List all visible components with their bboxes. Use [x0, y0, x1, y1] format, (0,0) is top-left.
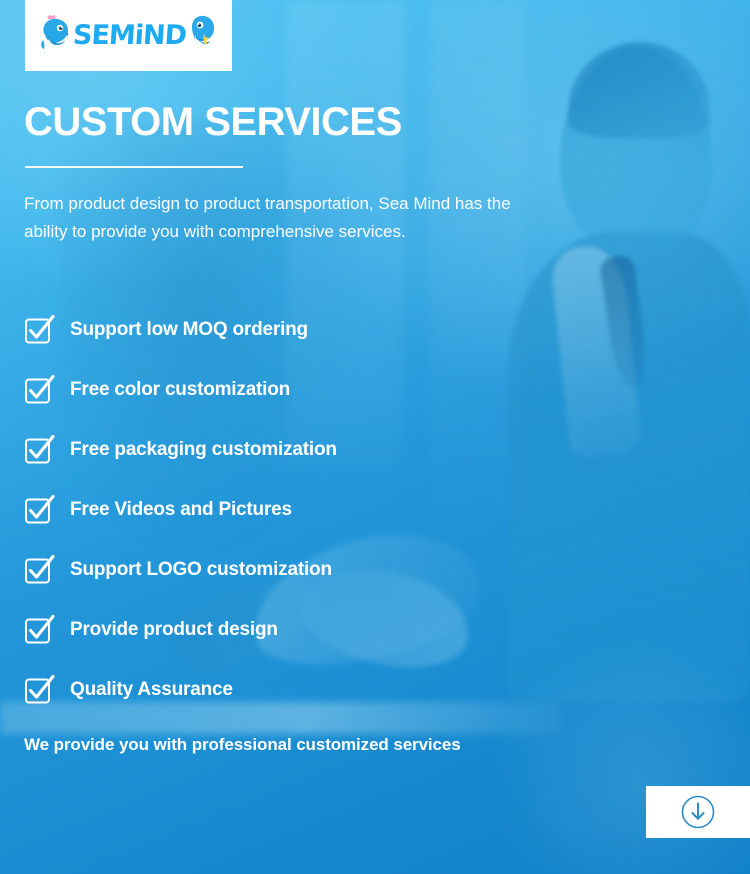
- list-item-label: Quality Assurance: [70, 679, 233, 701]
- dolphin-mascot-right-icon: [186, 13, 218, 58]
- list-item: Provide product design: [24, 600, 564, 660]
- download-button[interactable]: [646, 786, 750, 838]
- checkbox-checked-icon: [24, 315, 54, 345]
- feature-list: Support low MOQ ordering Free color cust…: [24, 300, 564, 720]
- logo-wordmark: SEMiND: [72, 22, 187, 49]
- logo-contents: SEMiND: [39, 13, 218, 58]
- checkbox-checked-icon: [24, 675, 54, 705]
- checkbox-checked-icon: [24, 615, 54, 645]
- list-item: Free packaging customization: [24, 420, 564, 480]
- list-item-label: Free Videos and Pictures: [70, 499, 292, 521]
- dolphin-mascot-left-icon: [39, 14, 73, 57]
- list-item-label: Free packaging customization: [70, 439, 337, 461]
- title-underline-divider: [25, 166, 243, 168]
- list-item: Support low MOQ ordering: [24, 300, 564, 360]
- checkbox-checked-icon: [24, 375, 54, 405]
- intro-paragraph: From product design to product transport…: [24, 190, 524, 246]
- page-title: CUSTOM SERVICES: [24, 100, 402, 144]
- list-item: Free Videos and Pictures: [24, 480, 564, 540]
- custom-services-banner: SEMiND CUSTOM SERVICES From product desi…: [0, 0, 750, 874]
- list-item: Free color customization: [24, 360, 564, 420]
- checkbox-checked-icon: [24, 555, 54, 585]
- list-item: Support LOGO customization: [24, 540, 564, 600]
- list-item-label: Free color customization: [70, 379, 290, 401]
- footer-tagline: We provide you with professional customi…: [24, 735, 461, 755]
- checkbox-checked-icon: [24, 435, 54, 465]
- list-item-label: Provide product design: [70, 619, 278, 641]
- businessman-hair: [568, 42, 710, 138]
- brand-logo[interactable]: SEMiND: [25, 0, 232, 71]
- checkbox-checked-icon: [24, 495, 54, 525]
- list-item-label: Support low MOQ ordering: [70, 319, 308, 341]
- list-item: Quality Assurance: [24, 660, 564, 720]
- list-item-label: Support LOGO customization: [70, 559, 332, 581]
- download-arrow-circle-icon: [680, 794, 716, 830]
